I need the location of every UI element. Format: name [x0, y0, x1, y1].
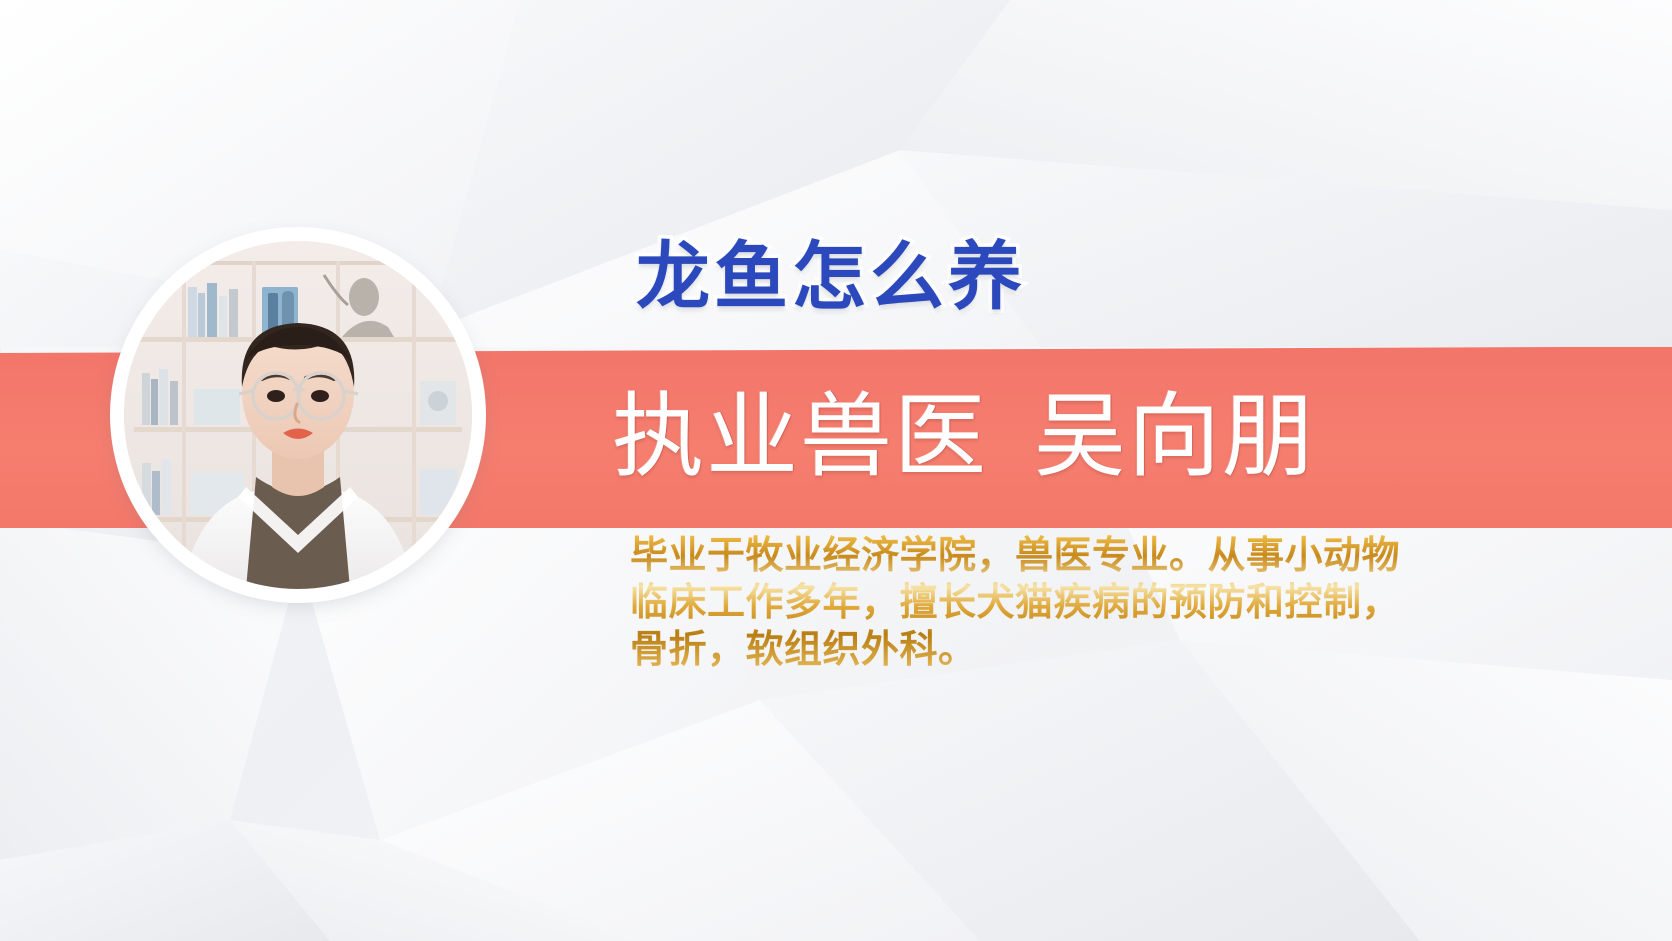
expert-name: 吴向朋 — [1034, 391, 1316, 483]
expert-bio: 毕业于牧业经济学院，兽医专业。从事小动物 临床工作多年，擅长犬猫疾病的预防和控制… — [630, 533, 1460, 674]
expert-role: 执业兽医 — [612, 391, 988, 483]
veterinarian-portrait-illustration — [124, 241, 472, 589]
video-title-card: 龙鱼怎么养 执业兽医 吴向朋 — [0, 0, 1672, 941]
avatar — [117, 234, 479, 596]
bio-line-2: 临床工作多年，擅长犬猫疾病的预防和控制， — [630, 580, 1460, 627]
bio-line-1: 毕业于牧业经济学院，兽医专业。从事小动物 — [630, 533, 1460, 580]
credential-line: 执业兽医 吴向朋 — [612, 372, 1512, 502]
bio-line-3: 骨折，软组织外科。 — [630, 627, 1460, 674]
page-title: 龙鱼怎么养 — [636, 240, 1026, 314]
avatar-photo — [124, 241, 472, 589]
